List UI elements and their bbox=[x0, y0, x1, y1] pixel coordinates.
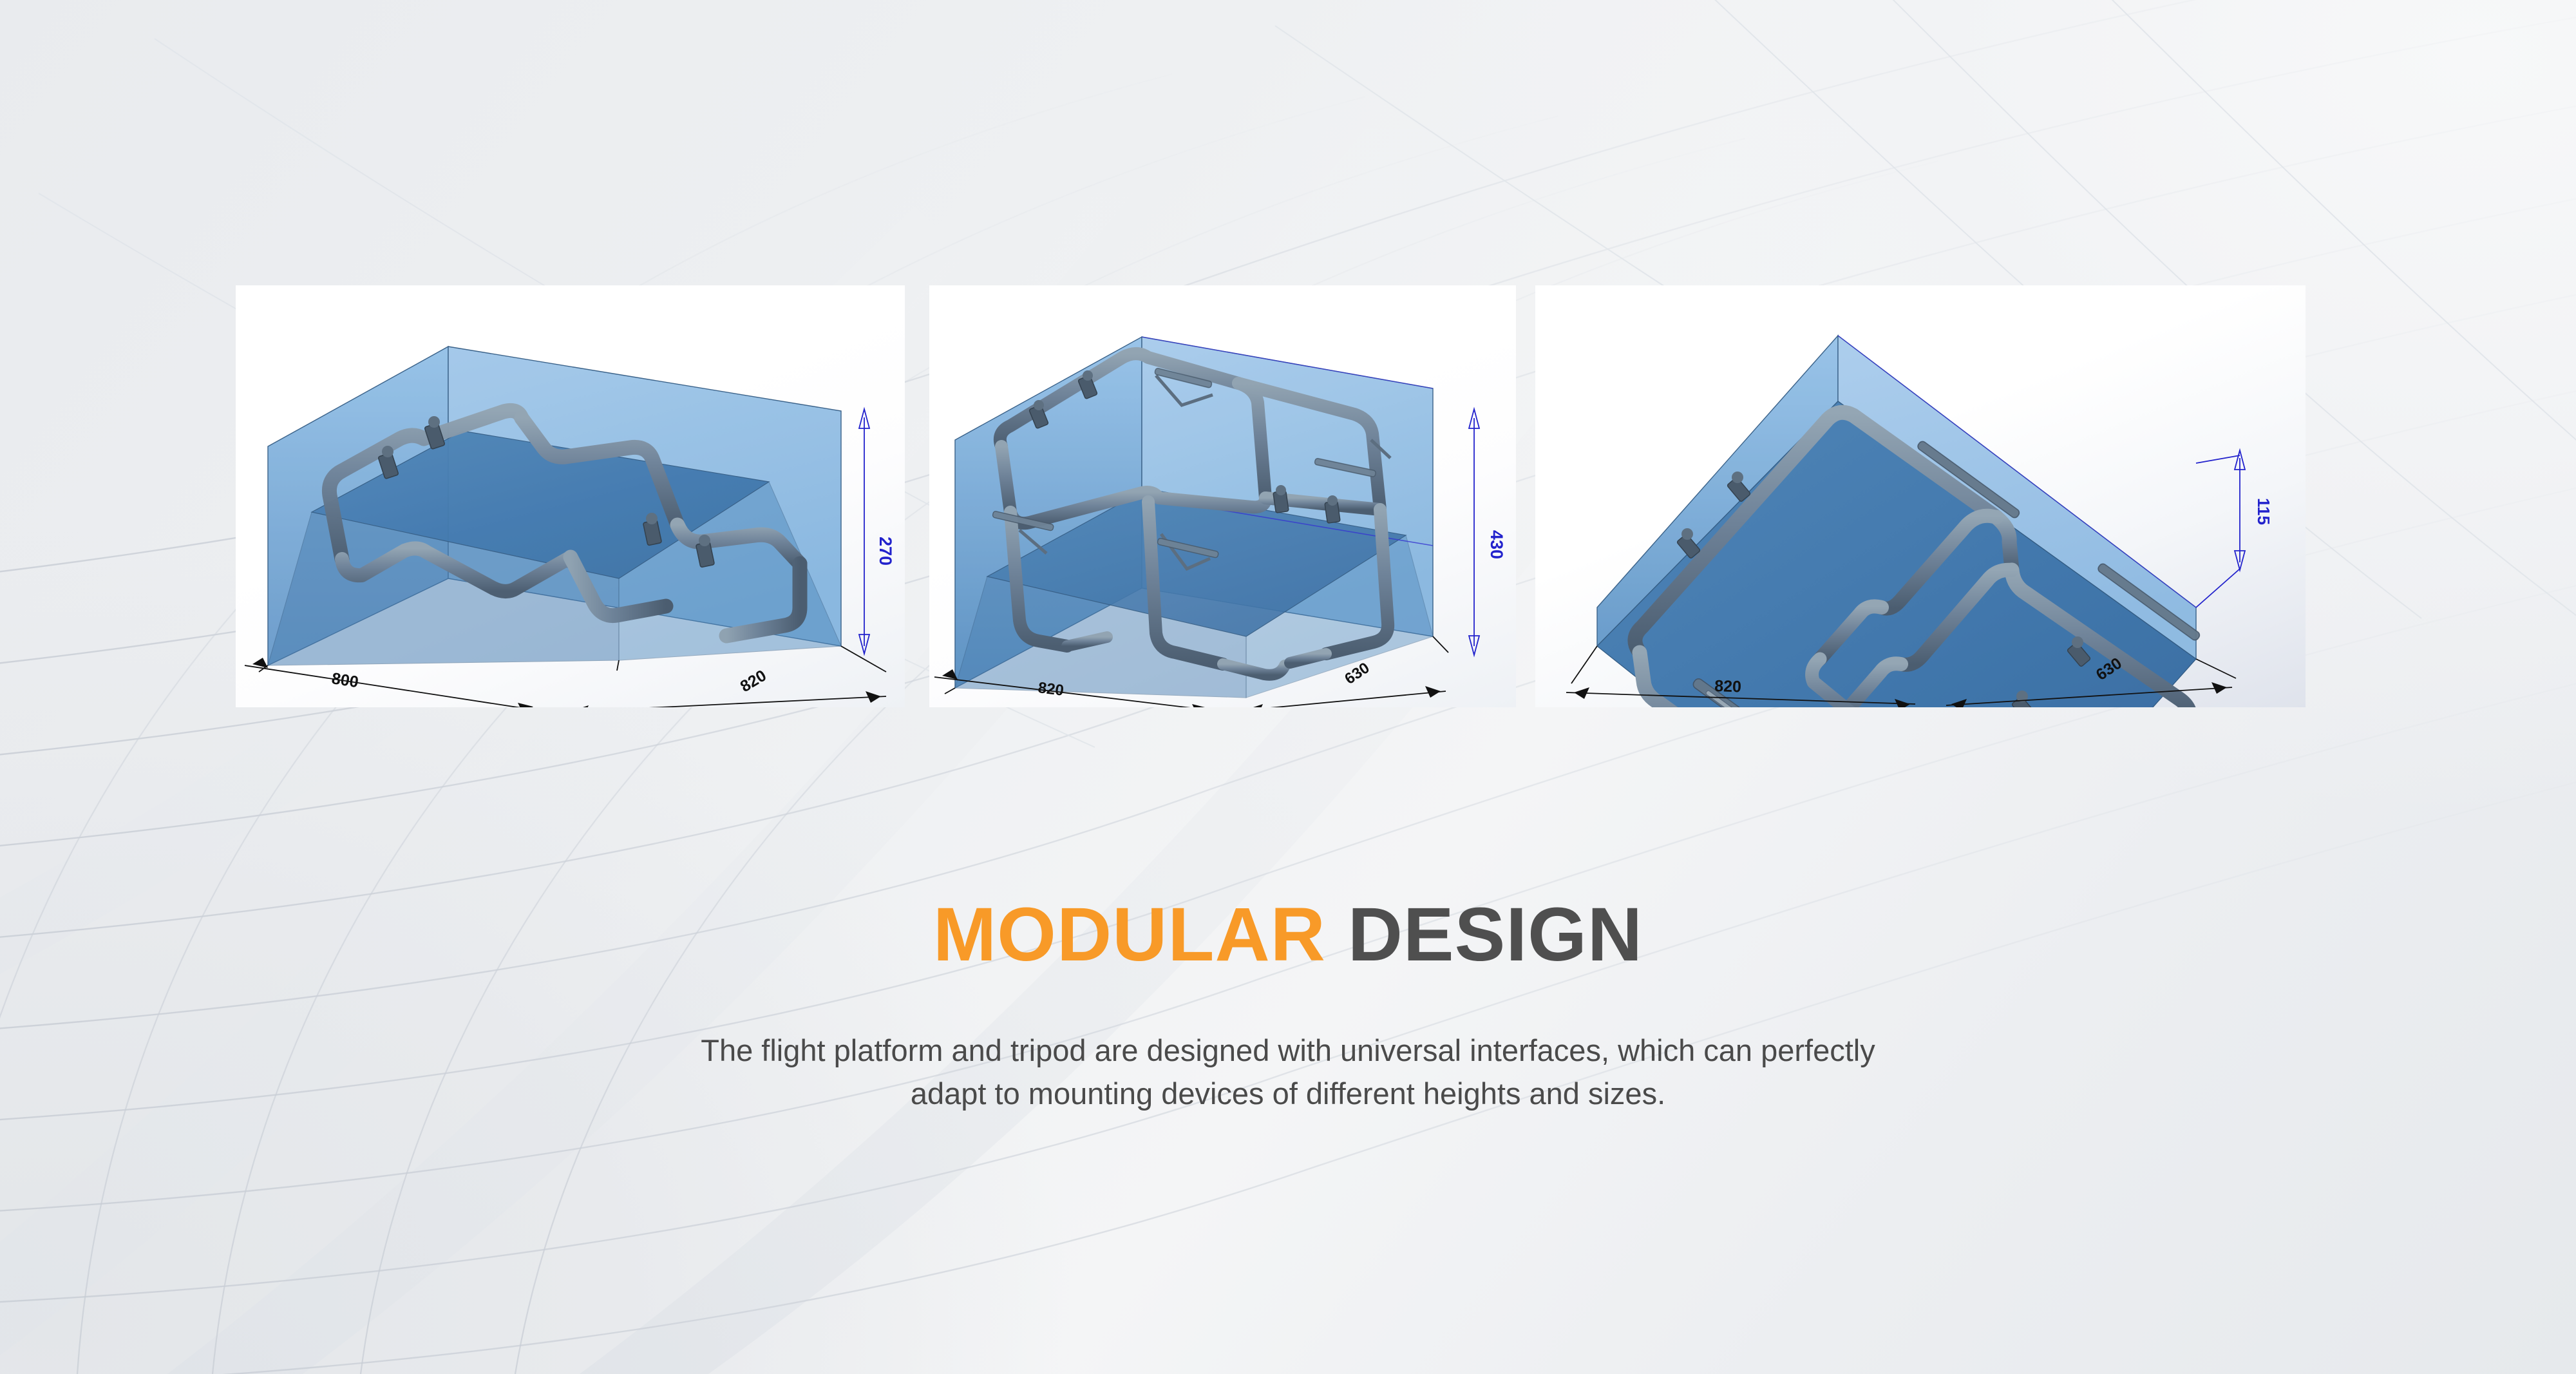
dimension-label-depth-1: 820 bbox=[737, 667, 770, 696]
cad-panel-flat-frame-115[interactable]: 820 630 115 bbox=[1535, 285, 2306, 707]
cad-drawing-1: 800 820 270 bbox=[236, 285, 905, 707]
cad-drawing-2: 820 630 430 bbox=[929, 285, 1516, 707]
dimension-label-height-1: 270 bbox=[876, 537, 895, 566]
dimension-label-width-3: 820 bbox=[1714, 677, 1742, 696]
dimension-label-width-1: 800 bbox=[330, 669, 359, 691]
cad-panel-tall-frame-430[interactable]: 820 630 430 bbox=[929, 285, 1516, 707]
dimension-label-height-3: 115 bbox=[2254, 498, 2273, 525]
dimension-label-width-2: 820 bbox=[1037, 679, 1065, 700]
headline-accent-word: MODULAR bbox=[933, 892, 1326, 977]
page-subtitle: The flight platform and tripod are desig… bbox=[0, 1029, 2576, 1115]
subtitle-line-2: adapt to mounting devices of different h… bbox=[0, 1073, 2576, 1116]
dimension-label-height-2: 430 bbox=[1487, 530, 1506, 559]
page-title: MODULAR DESIGN bbox=[0, 897, 2576, 973]
cad-panel-open-frame-270[interactable]: 800 820 270 bbox=[236, 285, 905, 707]
headline-plain-word: DESIGN bbox=[1348, 892, 1643, 977]
cad-drawing-3: 820 630 115 bbox=[1535, 285, 2306, 707]
subtitle-line-1: The flight platform and tripod are desig… bbox=[0, 1029, 2576, 1073]
